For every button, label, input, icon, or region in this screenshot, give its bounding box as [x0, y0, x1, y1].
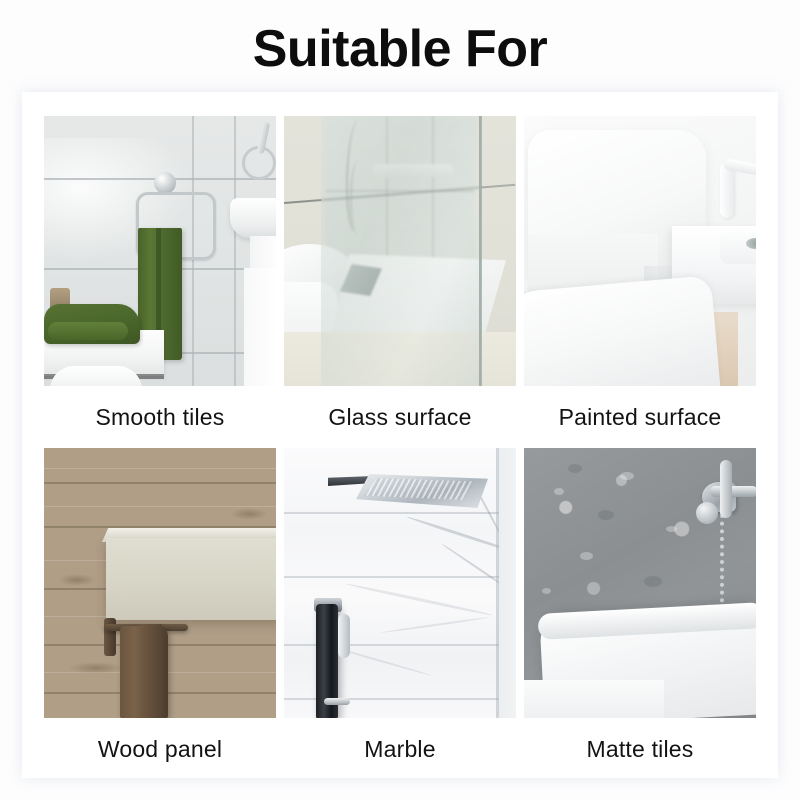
- suitable-for-page: Suitable For: [0, 0, 800, 800]
- gallery-label-painted-surface: Painted surface: [524, 386, 756, 448]
- gallery-label-smooth-tiles: Smooth tiles: [44, 386, 276, 448]
- gallery-image-glass-surface[interactable]: [284, 116, 516, 386]
- scene-smooth-tiles: [44, 116, 276, 386]
- scene-wood-panel: [44, 448, 276, 718]
- gallery-image-matte-tiles[interactable]: [524, 448, 756, 718]
- scene-painted-surface: [524, 116, 756, 386]
- scene-matte-tiles: [524, 448, 756, 718]
- gallery-label-matte-tiles: Matte tiles: [524, 718, 756, 780]
- gallery-image-painted-surface[interactable]: [524, 116, 756, 386]
- gallery-label-glass-surface: Glass surface: [284, 386, 516, 448]
- page-title: Suitable For: [0, 18, 800, 80]
- gallery-label-marble: Marble: [284, 718, 516, 780]
- scene-marble: [284, 448, 516, 718]
- gallery-card: Smooth tiles Glass surface Painted surfa…: [22, 92, 778, 778]
- scene-glass-surface: [284, 116, 516, 386]
- gallery-label-wood-panel: Wood panel: [44, 718, 276, 780]
- gallery-image-marble[interactable]: [284, 448, 516, 718]
- gallery-grid: Smooth tiles Glass surface Painted surfa…: [44, 116, 756, 756]
- gallery-image-wood-panel[interactable]: [44, 448, 276, 718]
- gallery-image-smooth-tiles[interactable]: [44, 116, 276, 386]
